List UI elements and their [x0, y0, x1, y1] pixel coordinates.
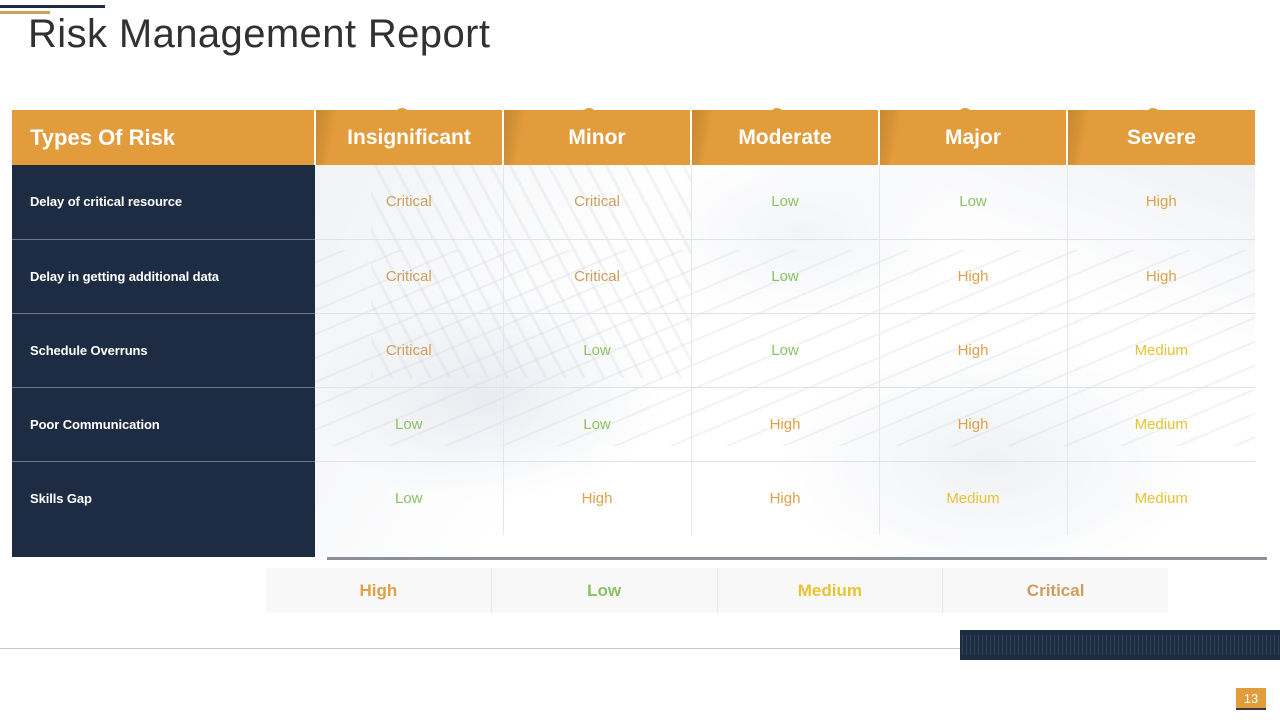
risk-cell[interactable]: Critical [315, 313, 503, 387]
column-header-insignificant[interactable]: Insignificant [315, 110, 503, 165]
column-header-types-of-risk[interactable]: Types Of Risk [12, 110, 315, 165]
risk-matrix: Types Of Risk Insignificant Minor Modera… [12, 110, 1255, 535]
column-header-minor[interactable]: Minor [503, 110, 691, 165]
legend-item-high[interactable]: High [266, 568, 492, 613]
risk-cell[interactable]: Low [315, 461, 503, 535]
risk-matrix-table: Types Of Risk Insignificant Minor Modera… [12, 110, 1255, 535]
row-label[interactable]: Delay in getting additional data [12, 239, 315, 313]
risk-cell[interactable]: Critical [503, 239, 691, 313]
column-header-moderate[interactable]: Moderate [691, 110, 879, 165]
row-label[interactable]: Poor Communication [12, 387, 315, 461]
table-row: Poor CommunicationLowLowHighHighMedium [12, 387, 1255, 461]
legend-item-low[interactable]: Low [492, 568, 718, 613]
risk-cell[interactable]: Low [879, 165, 1067, 239]
table-row: Schedule OverrunsCriticalLowLowHighMediu… [12, 313, 1255, 387]
legend-item-critical[interactable]: Critical [943, 568, 1168, 613]
table-row: Delay of critical resourceCriticalCritic… [12, 165, 1255, 239]
row-label[interactable]: Schedule Overruns [12, 313, 315, 387]
risk-cell[interactable]: Low [691, 239, 879, 313]
risk-cell[interactable]: Critical [315, 239, 503, 313]
risk-cell[interactable]: High [879, 239, 1067, 313]
risk-cell[interactable]: Medium [1067, 387, 1255, 461]
page-title: Risk Management Report [28, 12, 490, 57]
risk-cell[interactable]: Medium [1067, 461, 1255, 535]
risk-cell[interactable]: Critical [315, 165, 503, 239]
risk-cell[interactable]: High [691, 461, 879, 535]
table-header: Types Of Risk Insignificant Minor Modera… [12, 110, 1255, 165]
risk-cell[interactable]: High [503, 461, 691, 535]
risk-cell[interactable]: High [879, 387, 1067, 461]
risk-cell[interactable]: High [879, 313, 1067, 387]
footer-accent-block [960, 630, 1280, 660]
risk-cell[interactable]: Low [691, 313, 879, 387]
risk-cell[interactable]: Low [503, 313, 691, 387]
risk-cell[interactable]: Low [315, 387, 503, 461]
row-label[interactable]: Delay of critical resource [12, 165, 315, 239]
table-header-row: Types Of Risk Insignificant Minor Modera… [12, 110, 1255, 165]
table-body: Delay of critical resourceCriticalCritic… [12, 165, 1255, 535]
risk-cell[interactable]: Medium [879, 461, 1067, 535]
row-label[interactable]: Skills Gap [12, 461, 315, 535]
risk-cell[interactable]: Critical [503, 165, 691, 239]
corner-accent-bar-dark [0, 5, 105, 8]
table-row: Skills GapLowHighHighMediumMedium [12, 461, 1255, 535]
risk-cell[interactable]: High [1067, 239, 1255, 313]
rating-legend: HighLowMediumCritical [266, 568, 1168, 613]
page-number-badge: 13 [1236, 688, 1266, 710]
table-bottom-rule [327, 557, 1267, 560]
column-header-major[interactable]: Major [879, 110, 1067, 165]
risk-cell[interactable]: Low [503, 387, 691, 461]
column-header-severe[interactable]: Severe [1067, 110, 1255, 165]
risk-cell[interactable]: Low [691, 165, 879, 239]
risk-cell[interactable]: High [691, 387, 879, 461]
table-row: Delay in getting additional dataCritical… [12, 239, 1255, 313]
legend-item-medium[interactable]: Medium [718, 568, 944, 613]
risk-cell[interactable]: High [1067, 165, 1255, 239]
risk-cell[interactable]: Medium [1067, 313, 1255, 387]
